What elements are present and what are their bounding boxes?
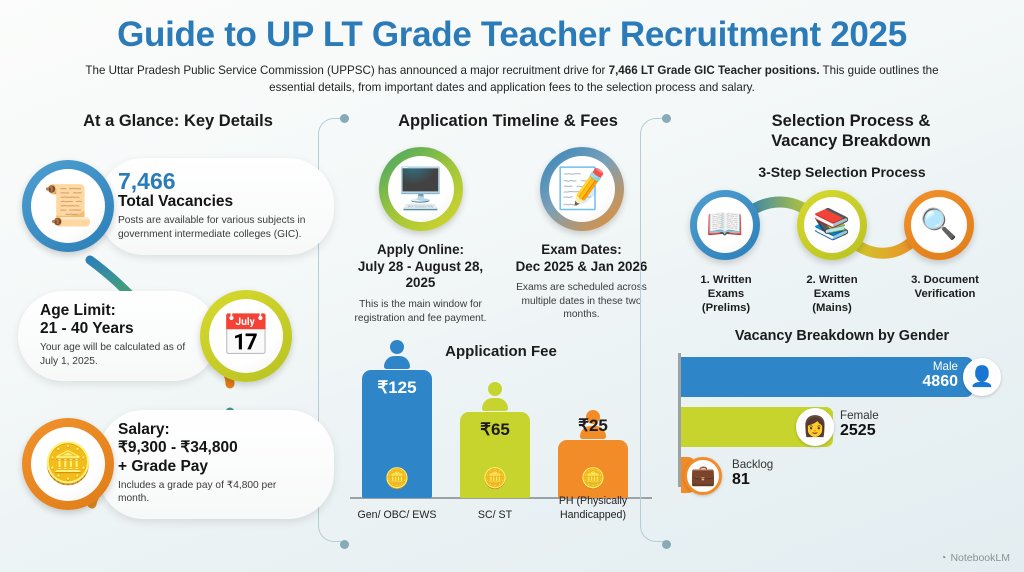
watermark-label: NotebookLM (950, 552, 1010, 564)
open-book-icon: 📖 (690, 190, 760, 260)
watermark: ◔ NotebookLM (940, 552, 1010, 564)
timeline-heading: Application Timeline & Fees (340, 112, 662, 131)
notebooklm-icon: ◔ (940, 552, 946, 564)
fee-bar-scst[interactable]: ₹65 🪙 (460, 412, 530, 498)
computer-mouse-icon: 🖥️ (379, 147, 463, 231)
section-selection-vacancy: Selection Process & Vacancy Breakdown 3-… (668, 112, 1016, 572)
card-salary-body: Salary: ₹9,300 - ₹34,800 + Grade Pay Inc… (98, 410, 334, 519)
total-vacancies-desc: Posts are available for various subjects… (118, 214, 308, 241)
salary-title-line3: + Grade Pay (118, 458, 308, 476)
exam-dates-date: Dec 2025 & Jan 2026 (508, 259, 656, 276)
scroll-book-pencil-icon: 📜 (22, 160, 114, 252)
apply-online-desc: This is the main window for registration… (347, 298, 495, 325)
fee-value-gen: ₹125 (362, 378, 432, 398)
selection-heading: Selection Process & Vacancy Breakdown (668, 112, 1016, 152)
steps-labels: 1. Written Exams (Prelims) 2. Written Ex… (668, 268, 1016, 318)
exam-dates-desc: Exams are scheduled across multiple date… (508, 281, 656, 321)
fee-value-scst: ₹65 (460, 420, 530, 440)
fee-label-gen: Gen/ OBC/ EWS (349, 509, 445, 522)
female-avatar-icon: 👩 (796, 408, 834, 446)
application-fee-chart: ₹125 🪙 Gen/ OBC/ EWS ₹65 🪙 SC/ ST ₹25 (354, 368, 648, 520)
vacancy-label-backlog: Backlog 81 (732, 459, 773, 490)
step-written-prelims[interactable]: 📖 (686, 190, 764, 260)
salary-desc: Includes a grade pay of ₹4,800 per month… (118, 479, 308, 506)
timeline-item-exam-dates[interactable]: 📝 Exam Dates: Dec 2025 & Jan 2026 Exams … (508, 147, 656, 324)
subtitle-part-a: The Uttar Pradesh Public Service Commiss… (85, 64, 608, 77)
fee-bar-gen[interactable]: ₹125 🪙 (362, 370, 432, 498)
total-vacancies-title: Total Vacancies (118, 193, 308, 211)
card-age-limit-body: Age Limit: 21 - 40 Years Your age will b… (18, 291, 218, 382)
card-total-vacancies-body: 7,466 Total Vacancies Posts are availabl… (98, 158, 334, 255)
selection-heading-line2: Vacancy Breakdown (686, 132, 1016, 152)
document-magnifier-icon: 🔍 (904, 190, 974, 260)
coins-icon-ph: 🪙 (558, 466, 628, 491)
step-document-verification[interactable]: 🔍 (900, 190, 978, 260)
timeline-bracket-dot-bottom (340, 540, 349, 549)
section-key-details: At a Glance: Key Details 📜 7,466 (18, 112, 338, 572)
document-pencil-icon: 📝 (540, 147, 624, 231)
age-limit-title-line1: Age Limit: (40, 302, 198, 320)
salary-title-line2: ₹9,300 - ₹34,800 (118, 439, 308, 457)
selection-bracket-dot-bottom (662, 540, 671, 549)
page-subtitle: The Uttar Pradesh Public Service Commiss… (82, 63, 942, 97)
vacancy-label-male: Male 4860 (838, 361, 958, 392)
vacancy-label-female: Female 2525 (840, 410, 879, 441)
fee-label-ph: PH (Physically Handicapped) (545, 495, 641, 521)
coins-icon-gen: 🪙 (362, 466, 432, 491)
step-2-label: 2. Written Exams (Mains) (780, 273, 884, 315)
age-limit-title-line2: 21 - 40 Years (40, 320, 198, 338)
step-1-label: 1. Written Exams (Prelims) (674, 273, 778, 315)
fee-bar-ph[interactable]: ₹25 🪙 (558, 440, 628, 498)
apply-online-date: July 28 - August 28, 2025 (347, 259, 495, 293)
vacancy-chart-title: Vacancy Breakdown by Gender (668, 328, 1016, 344)
fee-label-scst: SC/ ST (447, 509, 543, 522)
card-salary[interactable]: 🪙 Salary: ₹9,300 - ₹34,800 + Grade Pay I… (22, 410, 338, 519)
timeline-item-apply-online[interactable]: 🖥️ Apply Online: July 28 - August 28, 20… (347, 147, 495, 324)
card-total-vacancies[interactable]: 📜 7,466 Total Vacancies Posts are availa… (22, 158, 338, 255)
page-header: Guide to UP LT Grade Teacher Recruitment… (0, 0, 1024, 96)
books-pencil-icon: 📚 (797, 190, 867, 260)
section-timeline-fees: Application Timeline & Fees 🖥️ Apply Onl… (340, 112, 662, 572)
male-avatar-icon: 👤 (963, 358, 1001, 396)
selection-steps: 📖 📚 🔍 (668, 190, 1016, 268)
total-vacancies-number: 7,466 (118, 169, 308, 193)
person-icon-gen (384, 340, 410, 368)
step-written-mains[interactable]: 📚 (793, 190, 871, 260)
coins-growth-icon: 🪙 (22, 418, 114, 510)
person-icon-scst (482, 382, 508, 410)
page-title: Guide to UP LT Grade Teacher Recruitment… (0, 16, 1024, 54)
coins-icon-scst: 🪙 (460, 466, 530, 491)
fee-value-ph: ₹25 (558, 416, 628, 436)
salary-title-line1: Salary: (118, 421, 308, 439)
steps-subtitle: 3-Step Selection Process (668, 164, 1016, 180)
timeline-items: 🖥️ Apply Online: July 28 - August 28, 20… (340, 147, 662, 324)
selection-heading-line1: Selection Process & (686, 112, 1016, 132)
apply-online-title: Apply Online: (347, 242, 495, 258)
exam-dates-title: Exam Dates: (508, 242, 656, 258)
step-3-label: 3. Document Verification (886, 273, 1004, 301)
age-limit-desc: Your age will be calculated as of July 1… (40, 341, 198, 368)
vacancy-breakdown-chart: Male 4860 👤 👩 Female 2525 💼 Backlog 81 (678, 353, 1016, 493)
calendar-clock-icon: 📅 (200, 290, 292, 382)
briefcase-icon: 💼 (684, 457, 722, 495)
subtitle-highlight: 7,466 LT Grade GIC Teacher positions. (609, 64, 820, 77)
